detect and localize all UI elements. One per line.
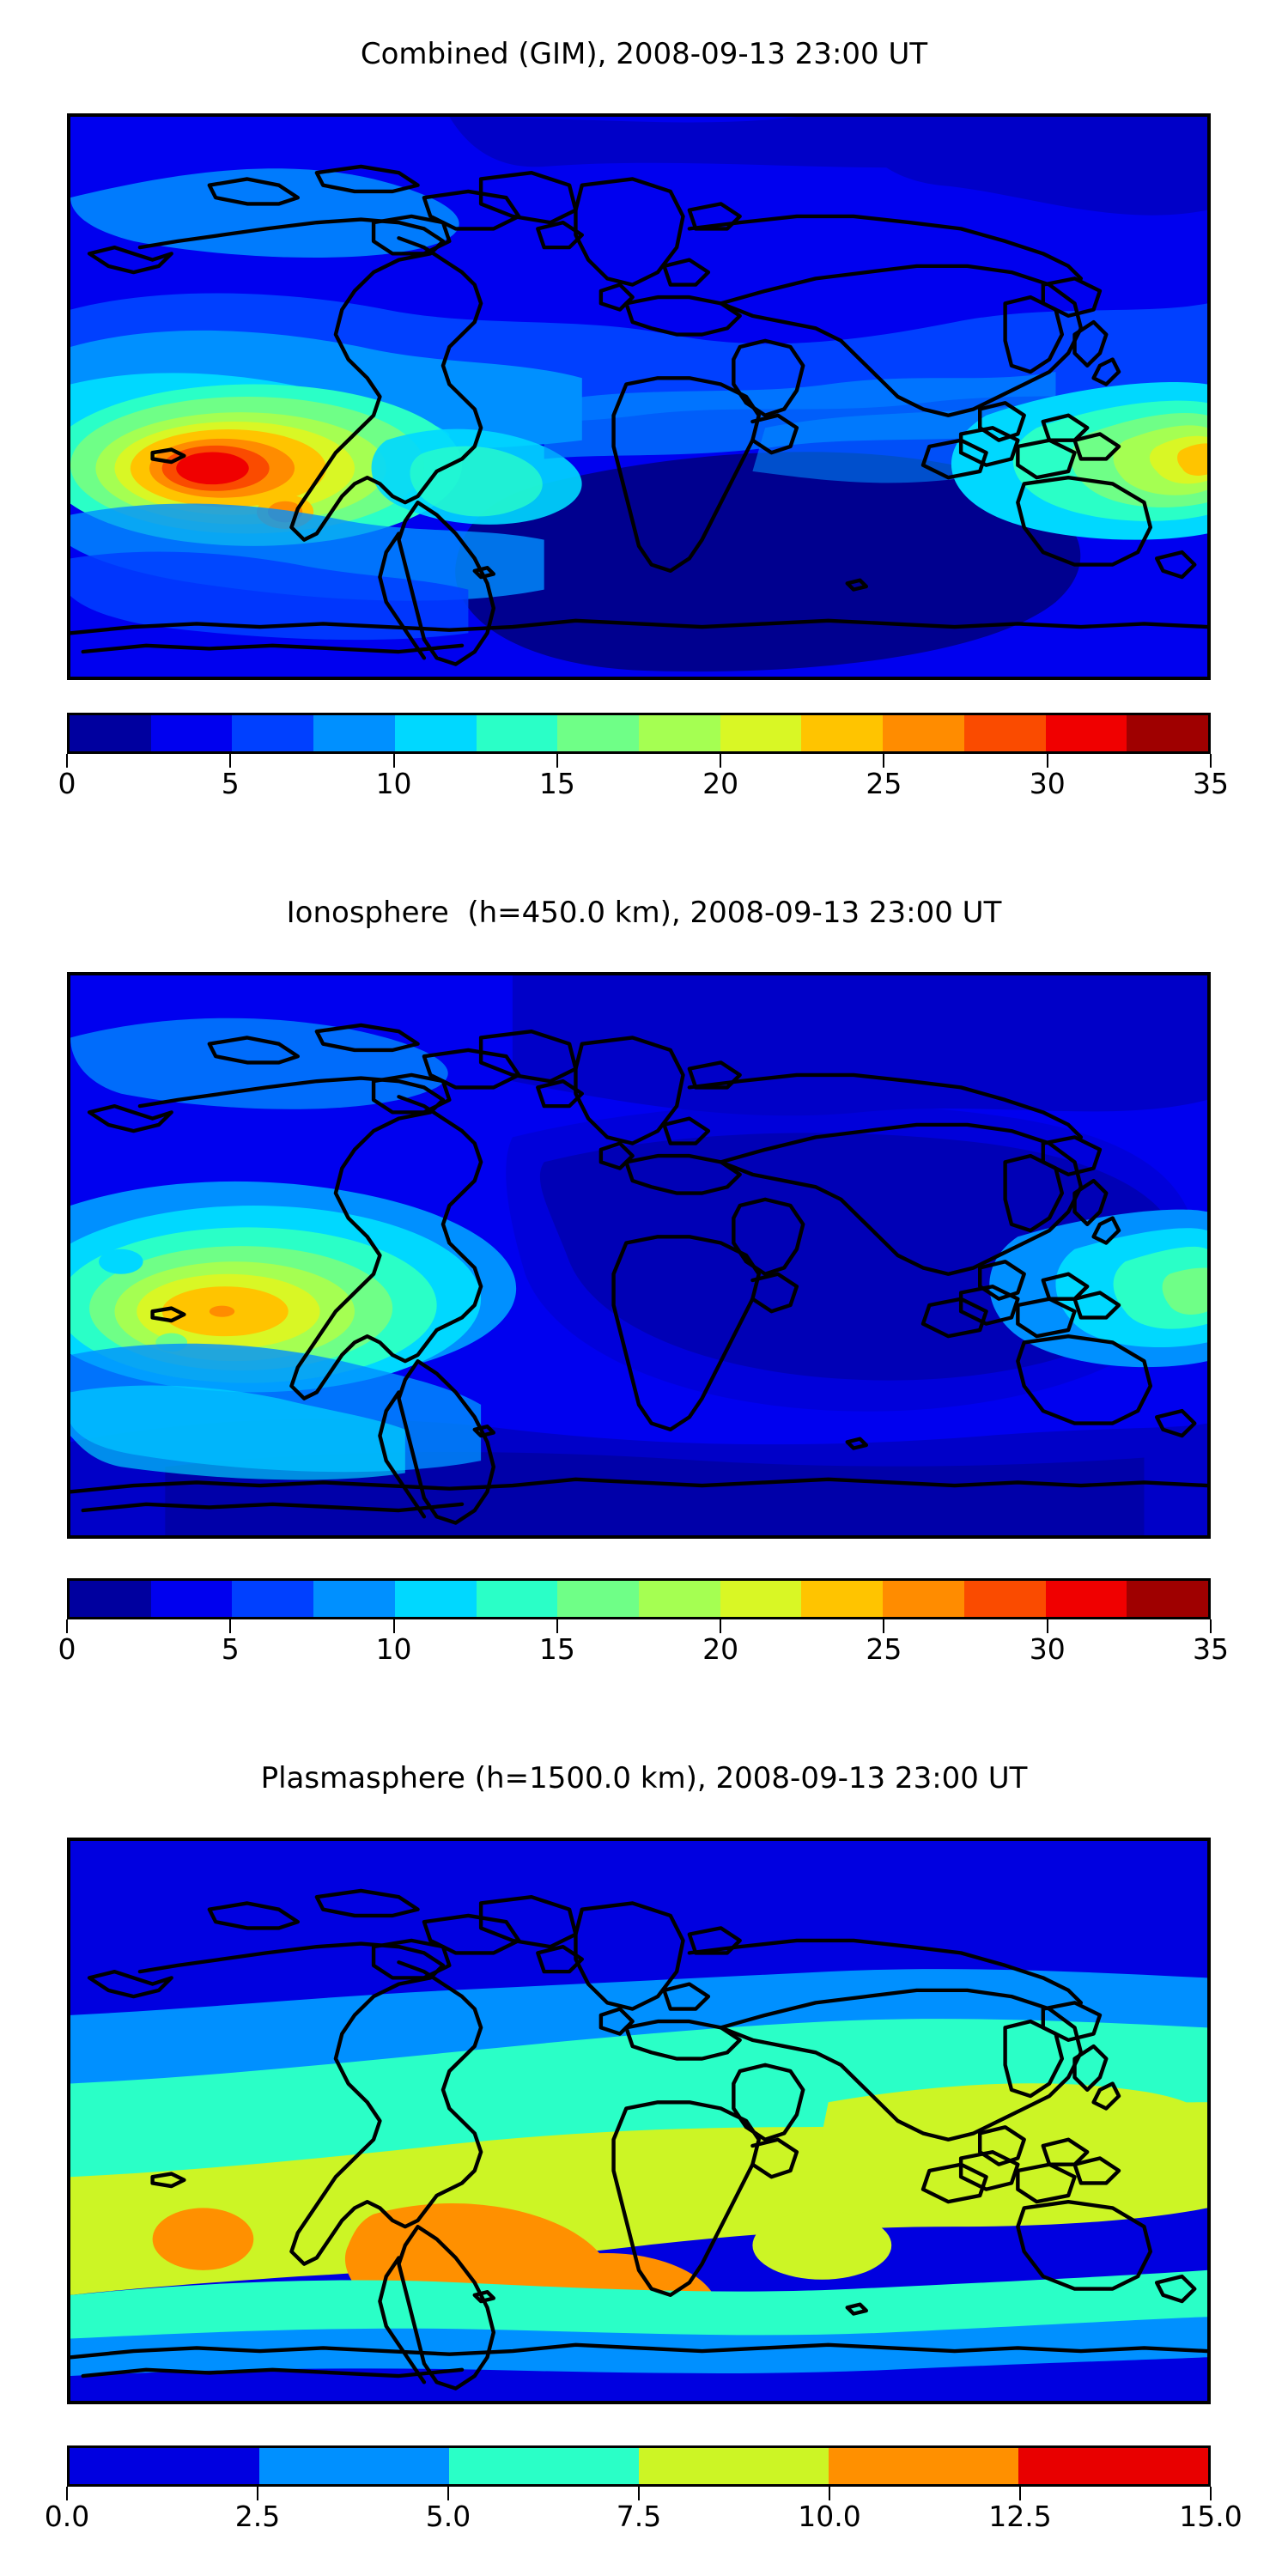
colorbar-tick-mark [720, 754, 721, 768]
colorbar-swatch [151, 715, 233, 751]
colorbar-swatch [259, 2448, 449, 2484]
panel-plasmasphere: Plasmasphere (h=1500.0 km), 2008-09-13 2… [0, 1764, 1288, 1793]
colorbar-tick-mark [229, 1619, 231, 1633]
colorbar-ticks-ionosphere [67, 1619, 1211, 1633]
colorbar-swatch [232, 1581, 313, 1617]
colorbar-swatch [720, 715, 802, 751]
colorbar-tick-label: 2.5 [235, 2502, 280, 2530]
colorbar-tick-mark [1210, 2487, 1212, 2500]
colorbar-tick-label: 10.0 [798, 2502, 860, 2530]
tec-figure: Combined (GIM), 2008-09-13 23:00 UT [0, 0, 1288, 2576]
colorbar-swatch [883, 1581, 964, 1617]
colorbar-swatch [1018, 2448, 1208, 2484]
colorbar-tick-mark [883, 754, 884, 768]
colorbar-combined: 05101520253035 [67, 713, 1211, 805]
colorbar-swatch [313, 715, 395, 751]
colorbar-tick-mark [1210, 754, 1212, 768]
colorbar-tick-label: 30 [1030, 769, 1066, 798]
panel-title-plasmasphere: Plasmasphere (h=1500.0 km), 2008-09-13 2… [0, 1764, 1288, 1793]
colorbar-swatch [639, 1581, 720, 1617]
colorbar-tick-mark [257, 2487, 258, 2500]
colorbar-tick-mark [556, 754, 558, 768]
colorbar-swatch [639, 715, 720, 751]
map-plasmasphere [67, 1838, 1211, 2404]
colorbar-swatch [70, 715, 151, 751]
colorbar-tick-mark [638, 2487, 640, 2500]
colorbar-tick-mark [393, 1619, 395, 1633]
colorbar-tick-label: 0.0 [45, 2502, 89, 2530]
colorbar-swatch [964, 715, 1046, 751]
colorbar-swatch [720, 1581, 802, 1617]
panel-title-ionosphere: Ionosphere (h=450.0 km), 2008-09-13 23:0… [0, 898, 1288, 927]
contour-layer-combined [70, 117, 1207, 677]
map-combined-gim [67, 113, 1211, 680]
colorbar-tick-mark [1019, 2487, 1021, 2500]
colorbar-tick-label: 10 [376, 1635, 412, 1663]
colorbar-tick-label: 15 [539, 1635, 575, 1663]
colorbar-tick-label: 0 [58, 1635, 76, 1663]
colorbar-tick-label: 25 [866, 769, 902, 798]
colorbar-tick-label: 30 [1030, 1635, 1066, 1663]
colorbar-swatch [477, 715, 558, 751]
colorbar-swatch [964, 1581, 1046, 1617]
contour-layer-ionosphere [70, 975, 1207, 1535]
map-canvas-ionosphere [70, 975, 1207, 1535]
colorbar-swatch [829, 2448, 1018, 2484]
colorbar-tick-label: 20 [702, 1635, 738, 1663]
colorbar-ionosphere: 05101520253035 [67, 1578, 1211, 1671]
colorbar-tick-label: 15 [539, 769, 575, 798]
colorbar-labels-plasmasphere: 0.02.55.07.510.012.515.0 [67, 2500, 1211, 2538]
colorbar-swatch [639, 2448, 829, 2484]
colorbar-tick-mark [66, 2487, 68, 2500]
colorbar-swatch [883, 715, 964, 751]
colorbar-tick-mark [1047, 1619, 1048, 1633]
colorbar-ticks-combined [67, 754, 1211, 768]
colorbar-tick-label: 35 [1193, 769, 1229, 798]
colorbar-tick-label: 20 [702, 769, 738, 798]
colorbar-plasmasphere: 0.02.55.07.510.012.515.0 [67, 2445, 1211, 2538]
colorbar-swatch [557, 1581, 639, 1617]
colorbar-labels-combined: 05101520253035 [67, 768, 1211, 805]
colorbar-swatch [477, 1581, 558, 1617]
colorbar-tick-mark [829, 2487, 830, 2500]
colorbar-swatch [801, 1581, 883, 1617]
contour-layer-plasmasphere [70, 1841, 1207, 2401]
colorbar-swatch [70, 2448, 259, 2484]
colorbar-tick-mark [66, 1619, 68, 1633]
panel-title-combined: Combined (GIM), 2008-09-13 23:00 UT [0, 39, 1288, 69]
panel-combined-gim: Combined (GIM), 2008-09-13 23:00 UT [0, 39, 1288, 69]
colorbar-tick-label: 12.5 [988, 2502, 1051, 2530]
colorbar-swatch [313, 1581, 395, 1617]
colorbar-tick-mark [1047, 754, 1048, 768]
colorbar-swatch [395, 715, 477, 751]
colorbar-tick-mark [447, 2487, 449, 2500]
map-canvas-plasmasphere [70, 1841, 1207, 2401]
colorbar-tick-label: 35 [1193, 1635, 1229, 1663]
colorbar-swatch [1046, 1581, 1127, 1617]
colorbar-tick-mark [556, 1619, 558, 1633]
colorbar-swatch [395, 1581, 477, 1617]
colorbar-tick-label: 7.5 [617, 2502, 661, 2530]
colorbar-swatch [1127, 1581, 1208, 1617]
colorbar-tick-mark [393, 754, 395, 768]
panel-ionosphere: Ionosphere (h=450.0 km), 2008-09-13 23:0… [0, 898, 1288, 927]
colorbar-tick-mark [883, 1619, 884, 1633]
colorbar-swatch [557, 715, 639, 751]
colorbar-tick-label: 5 [222, 1635, 240, 1663]
colorbar-tick-label: 5.0 [426, 2502, 471, 2530]
colorbar-tick-label: 25 [866, 1635, 902, 1663]
colorbar-swatch [70, 1581, 151, 1617]
colorbar-labels-ionosphere: 05101520253035 [67, 1633, 1211, 1671]
colorbar-swatch [1046, 715, 1127, 751]
colorbar-strip-ionosphere [67, 1578, 1211, 1619]
map-canvas-combined [70, 117, 1207, 677]
colorbar-tick-label: 10 [376, 769, 412, 798]
map-ionosphere [67, 972, 1211, 1539]
colorbar-swatch [449, 2448, 639, 2484]
colorbar-tick-label: 15.0 [1179, 2502, 1242, 2530]
colorbar-tick-mark [1210, 1619, 1212, 1633]
colorbar-swatch [801, 715, 883, 751]
colorbar-tick-mark [720, 1619, 721, 1633]
colorbar-tick-label: 5 [222, 769, 240, 798]
colorbar-ticks-plasmasphere [67, 2487, 1211, 2500]
colorbar-tick-mark [66, 754, 68, 768]
colorbar-strip-plasmasphere [67, 2445, 1211, 2487]
colorbar-tick-mark [229, 754, 231, 768]
colorbar-strip-combined [67, 713, 1211, 754]
colorbar-swatch [1127, 715, 1208, 751]
colorbar-tick-label: 0 [58, 769, 76, 798]
colorbar-swatch [151, 1581, 233, 1617]
colorbar-swatch [232, 715, 313, 751]
